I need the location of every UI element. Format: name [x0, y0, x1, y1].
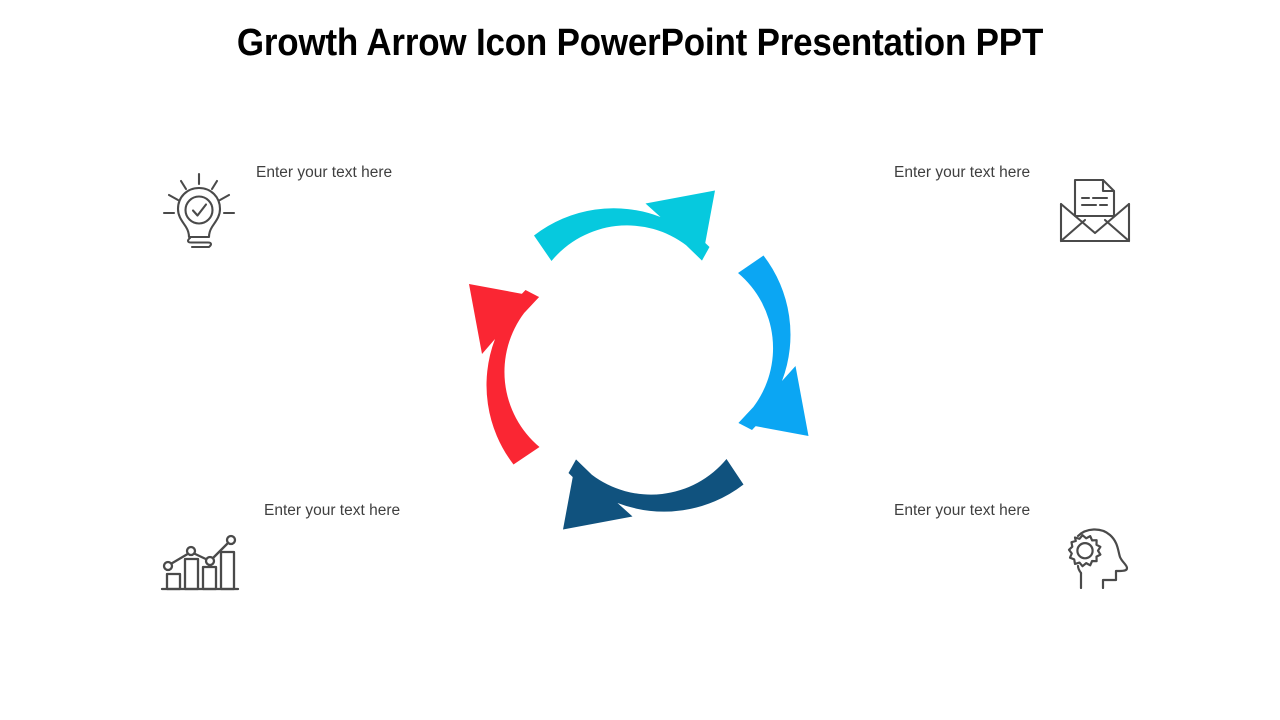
- quadrant-top-right[interactable]: Enter your text here: [894, 163, 1132, 252]
- top-right-arrow: [534, 191, 715, 262]
- bar-chart-trend-icon: [160, 529, 240, 600]
- lightbulb-check-icon: [160, 171, 238, 258]
- bottom-right-arrow: [738, 256, 809, 437]
- envelope-letter-icon: [1058, 171, 1132, 252]
- quadrant-bottom-right[interactable]: Enter your text here: [894, 503, 1136, 594]
- head-gear-icon: [1054, 525, 1136, 594]
- quadrant-top-left[interactable]: Enter your text here: [160, 163, 392, 258]
- cycle-arrow-diagram: [455, 176, 823, 544]
- slide-canvas: Growth Arrow Icon PowerPoint Presentatio…: [0, 0, 1280, 720]
- quadrant-label-top-left: Enter your text here: [256, 165, 392, 181]
- quadrant-label-bottom-right: Enter your text here: [894, 503, 1030, 519]
- quadrant-bottom-left[interactable]: Enter your text here: [160, 503, 400, 600]
- quadrant-label-top-right: Enter your text here: [894, 165, 1030, 181]
- quadrant-label-bottom-left: Enter your text here: [264, 503, 400, 519]
- top-left-arrow: [469, 284, 540, 465]
- page-title: Growth Arrow Icon PowerPoint Presentatio…: [51, 22, 1229, 65]
- bottom-left-arrow: [563, 459, 744, 530]
